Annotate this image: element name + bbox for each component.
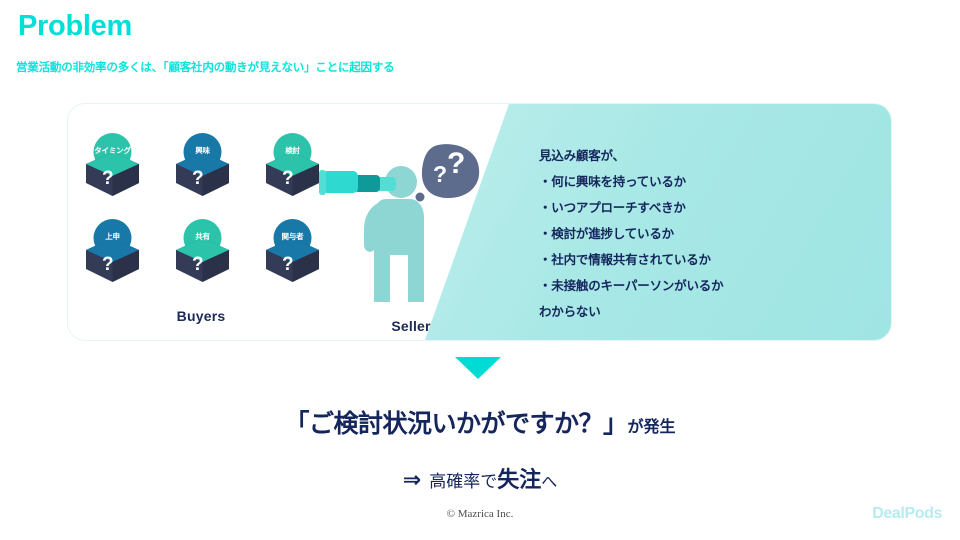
svg-text:?: ?	[192, 168, 204, 189]
seller-label: Seller	[316, 318, 506, 334]
svg-text:?: ?	[102, 254, 114, 275]
thought-dot-icon	[416, 193, 425, 202]
seller-illustration: ? ?	[316, 137, 506, 312]
question-line: 見込み顧客が、	[539, 143, 869, 169]
page-subtitle: 営業活動の非効率の多くは、「顧客社内の動きが見えない」ことに起因する	[16, 59, 394, 75]
svg-text:?: ?	[282, 254, 294, 275]
svg-text:?: ?	[192, 254, 204, 275]
seller-group: ? ? Seller	[316, 137, 506, 327]
conclusion-line-1: 「ご検討状況いかがですか？」が発生	[0, 404, 960, 440]
down-arrow-icon	[455, 357, 501, 379]
question-line: ・何に興味を持っているか	[539, 169, 869, 195]
svg-text:?: ?	[102, 168, 114, 189]
conclusion-block: 「ご検討状況いかがですか？」が発生 ⇒高確率で失注へ	[0, 404, 960, 494]
question-line: ・社内で情報共有されているか	[539, 247, 869, 273]
cube-icon: ?	[81, 214, 144, 284]
svg-text:?: ?	[433, 161, 447, 187]
svg-text:?: ?	[282, 168, 294, 189]
question-list: 見込み顧客が、 ・何に興味を持っているか ・いつアプローチすべきか ・検討が進捗…	[539, 143, 869, 325]
cube-icon: ?	[81, 128, 144, 198]
implies-arrow-icon: ⇒	[403, 467, 421, 492]
buyer-cube[interactable]: ? 興味	[171, 128, 234, 198]
copyright-text: © Mazrica Inc.	[0, 508, 960, 520]
svg-text:?: ?	[447, 147, 465, 180]
buyer-cube[interactable]: ? 検討	[261, 128, 324, 198]
question-line: ・検討が進捗しているか	[539, 221, 869, 247]
buyers-group: ? タイミング ? 興味	[81, 128, 321, 284]
conclusion-emphasis: 失注	[497, 467, 541, 492]
telescope-barrel	[322, 171, 358, 193]
buyers-cube-row-top: ? タイミング ? 興味	[81, 128, 321, 198]
conclusion-quote: 「ご検討状況いかがですか？」	[284, 410, 627, 438]
brand-logo: DealPods	[872, 505, 942, 523]
buyer-cube[interactable]: ? 上申	[81, 214, 144, 284]
seller-body	[374, 199, 424, 302]
cube-icon: ?	[171, 128, 234, 198]
conclusion-quote-tail: が発生	[628, 419, 676, 436]
question-line: ・いつアプローチすべきか	[539, 195, 869, 221]
buyer-cube[interactable]: ? 共有	[171, 214, 234, 284]
cube-icon: ?	[261, 128, 324, 198]
question-line: わからない	[539, 299, 869, 325]
buyers-cube-row-bottom: ? 上申 ? 共有	[81, 214, 321, 284]
page-title: Problem	[18, 12, 132, 41]
buyers-label: Buyers	[81, 308, 321, 324]
buyer-cube[interactable]: ? 関与者	[261, 214, 324, 284]
question-line: ・未接触のキーパーソンがいるか	[539, 273, 869, 299]
cube-icon: ?	[261, 214, 324, 284]
buyer-cube[interactable]: ? タイミング	[81, 128, 144, 198]
diagram-card: ? タイミング ? 興味	[67, 103, 892, 341]
telescope-lens	[319, 170, 326, 195]
conclusion-prefix: 高確率で	[429, 472, 497, 491]
seller-arm	[364, 203, 378, 252]
conclusion-suffix: へ	[541, 474, 557, 491]
cube-icon: ?	[171, 214, 234, 284]
conclusion-line-2: ⇒高確率で失注へ	[0, 462, 960, 494]
